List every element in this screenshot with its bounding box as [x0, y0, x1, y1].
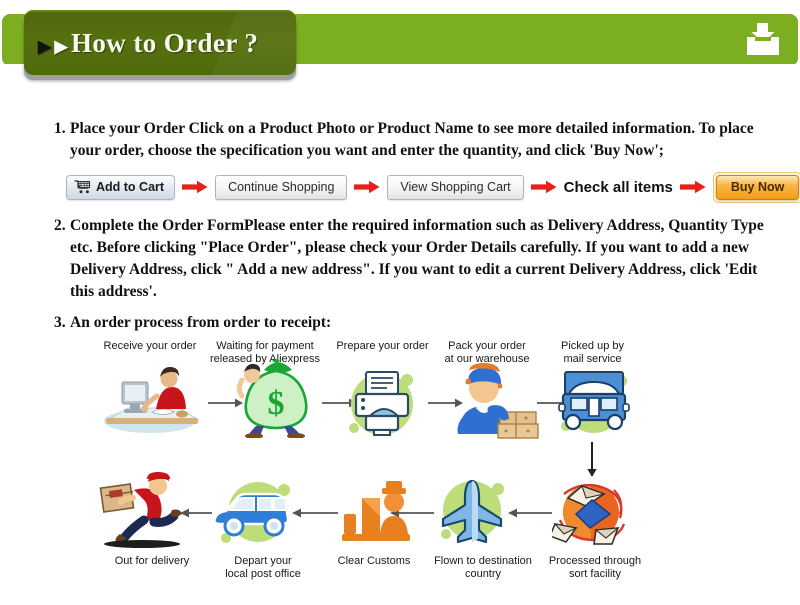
page-title-text: How to Order ? [71, 28, 258, 58]
money-bag-icon: $ [232, 358, 320, 438]
triangle-dark-icon: ▶ [38, 37, 51, 57]
add-to-cart-button[interactable]: Add to Cart [66, 175, 175, 200]
red-arrow-icon [531, 180, 557, 194]
step-2-number: 2. [54, 215, 66, 237]
view-shopping-cart-label: View Shopping Cart [400, 180, 510, 194]
flow-label-depart-post-office: Depart your local post office [208, 555, 318, 582]
blue-van-icon [208, 476, 300, 548]
flow-label-out-for-delivery: Out for delivery [96, 555, 208, 568]
flow-label-picked-up-by-mail: Picked up by mail service [545, 340, 640, 367]
triangle-light-icon: ▶ [54, 37, 67, 57]
order-process-flow: Receive your order Waiting for payment r… [0, 336, 800, 594]
customs-officer-icon [340, 478, 414, 546]
step-1: 1. Place your Order Click on a Product P… [54, 118, 774, 162]
how-to-order-page: ▶▶How to Order ? 1. Place your Order Cli… [0, 0, 800, 605]
shopping-cart-icon [74, 180, 91, 194]
flow-label-receive-your-order: Receive your order [95, 340, 205, 353]
step-1-text: Place your Order Click on a Product Phot… [54, 118, 774, 162]
add-to-cart-label: Add to Cart [96, 180, 164, 194]
page-header: ▶▶How to Order ? [0, 14, 800, 74]
red-arrow-icon [354, 180, 380, 194]
airplane-icon [432, 476, 510, 548]
step-2: 2. Complete the Order FormPlease enter t… [54, 215, 784, 303]
step-3-text: An order process from order to receipt: [54, 312, 554, 334]
delivery-truck-icon [553, 364, 635, 440]
flow-arrow-left-icon [508, 508, 552, 518]
red-arrow-icon [680, 180, 706, 194]
buy-now-label: Buy Now [731, 180, 784, 194]
printer-icon [340, 364, 424, 440]
title-plate: ▶▶How to Order ? [24, 10, 296, 75]
flow-label-prepare-your-order: Prepare your order [325, 340, 440, 353]
order-button-flow: Add to Cart Continue Shopping View Shopp… [66, 174, 800, 200]
flow-arrow-down-icon [586, 442, 598, 478]
warehouse-worker-icon [448, 362, 542, 440]
mail-sorting-icon [552, 476, 630, 548]
step-1-number: 1. [54, 118, 66, 140]
flow-label-processed-sort: Processed through sort facility [540, 555, 650, 582]
flow-label-clear-customs: Clear Customs [322, 555, 426, 568]
flow-label-flown-to-destination: Flown to destination country [428, 555, 538, 582]
view-shopping-cart-button[interactable]: View Shopping Cart [387, 175, 523, 200]
step-3: 3. An order process from order to receip… [54, 312, 554, 334]
step-3-number: 3. [54, 312, 66, 334]
person-at-computer-icon [100, 366, 205, 434]
red-arrow-icon [182, 180, 208, 194]
svg-text:$: $ [268, 385, 285, 422]
continue-shopping-button[interactable]: Continue Shopping [215, 175, 347, 200]
step-2-text: Complete the Order FormPlease enter the … [54, 215, 784, 303]
running-courier-icon [98, 472, 190, 548]
check-all-items-label: Check all items [564, 179, 673, 196]
download-tray-icon[interactable] [744, 22, 782, 58]
continue-shopping-label: Continue Shopping [228, 180, 334, 194]
page-title: ▶▶How to Order ? [24, 28, 258, 59]
buy-now-button[interactable]: Buy Now [716, 175, 799, 200]
buy-now-frame: Buy Now [713, 172, 800, 203]
